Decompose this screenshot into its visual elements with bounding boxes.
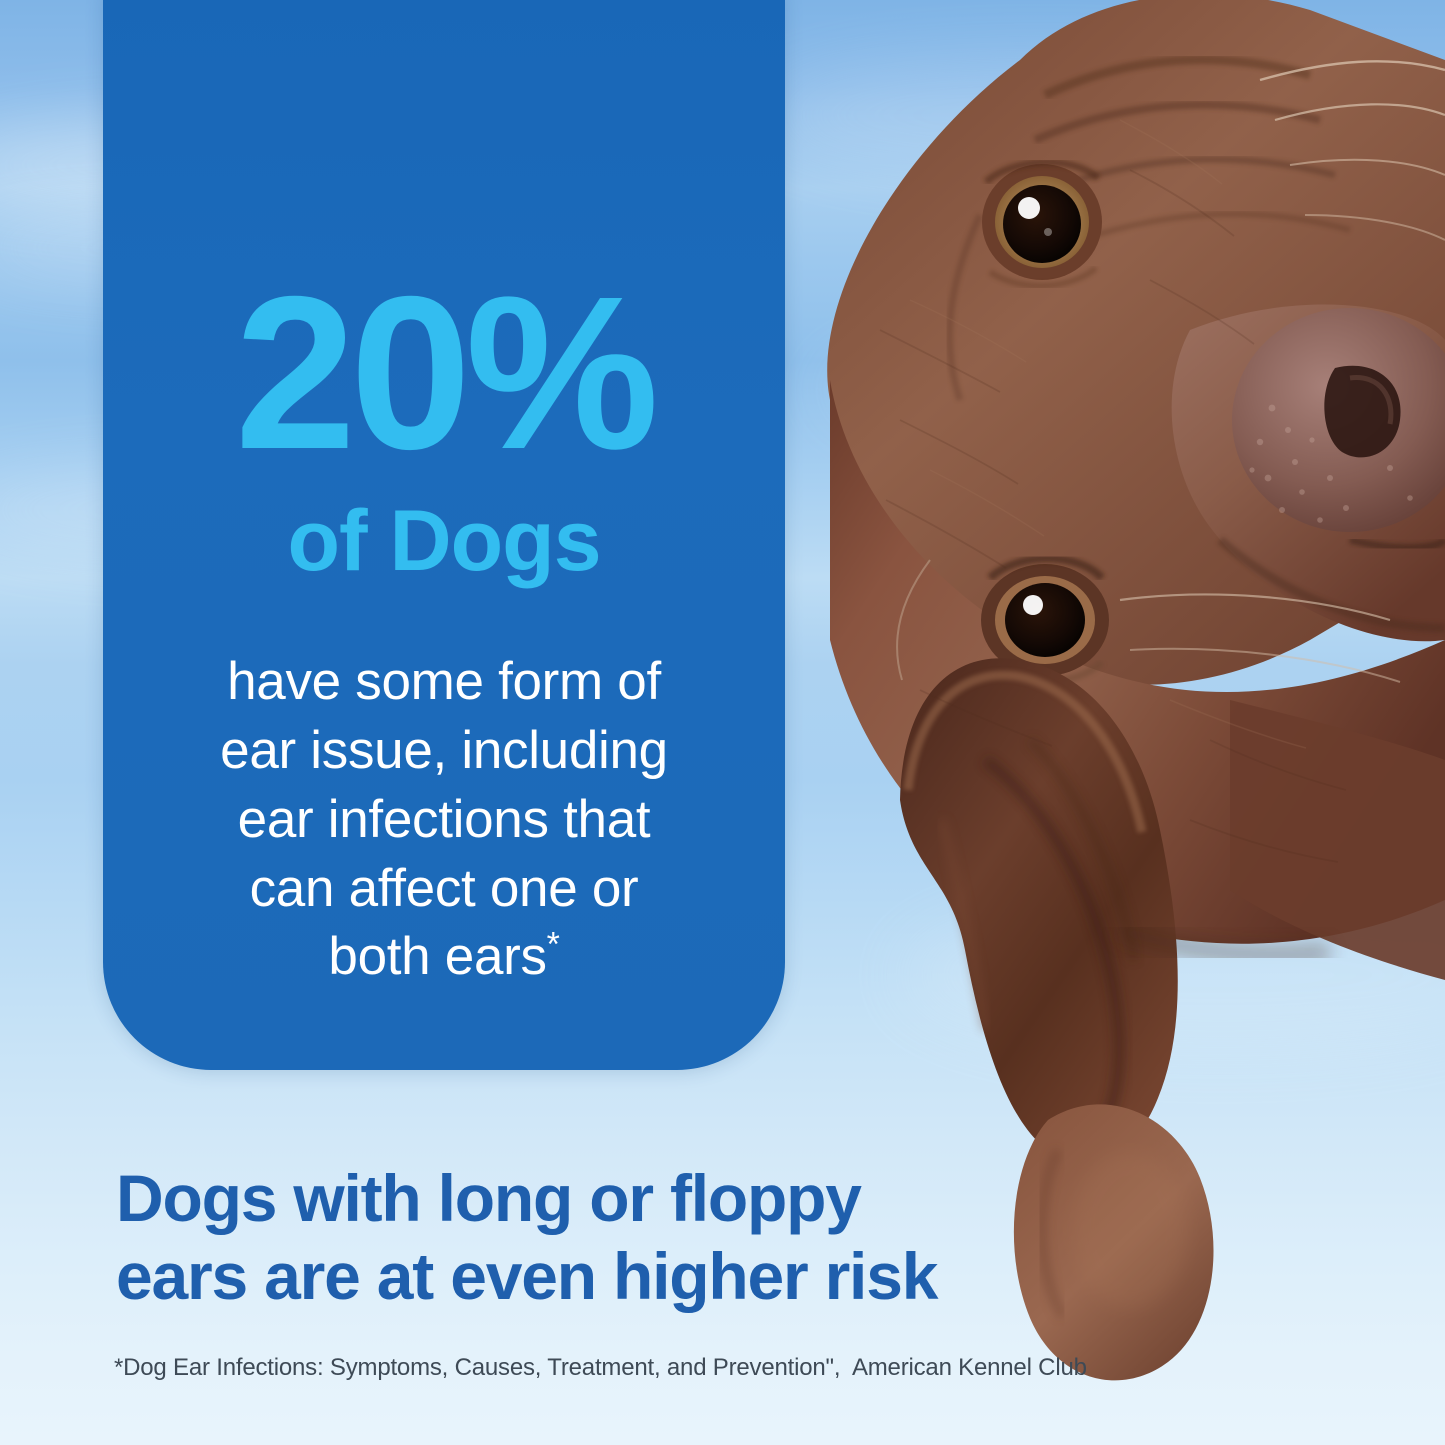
stat-body-line-4: can affect one or bbox=[250, 859, 639, 918]
stat-body-line-3: ear infections that bbox=[238, 790, 651, 849]
bottom-headline-line-2: ears are at even higher risk bbox=[116, 1238, 1076, 1316]
stat-body-line-5: both ears bbox=[328, 927, 546, 986]
poster-canvas: 20% of Dogs have some form of ear issue,… bbox=[0, 0, 1445, 1445]
stat-card: 20% of Dogs have some form of ear issue,… bbox=[103, 0, 785, 1070]
bottom-headline: Dogs with long or floppy ears are at eve… bbox=[116, 1160, 1076, 1316]
stat-percent-value: 20% bbox=[235, 278, 653, 470]
footnote-citation: *Dog Ear Infections: Symptoms, Causes, T… bbox=[114, 1353, 1087, 1383]
stat-body-line-2: ear issue, including bbox=[220, 721, 668, 780]
stat-subject-label: of Dogs bbox=[287, 498, 600, 584]
stat-body-line-1: have some form of bbox=[227, 652, 661, 711]
footnote-marker: * bbox=[547, 926, 560, 964]
stat-body-text: have some form of ear issue, including e… bbox=[220, 648, 668, 992]
bottom-headline-line-1: Dogs with long or floppy bbox=[116, 1160, 1076, 1238]
